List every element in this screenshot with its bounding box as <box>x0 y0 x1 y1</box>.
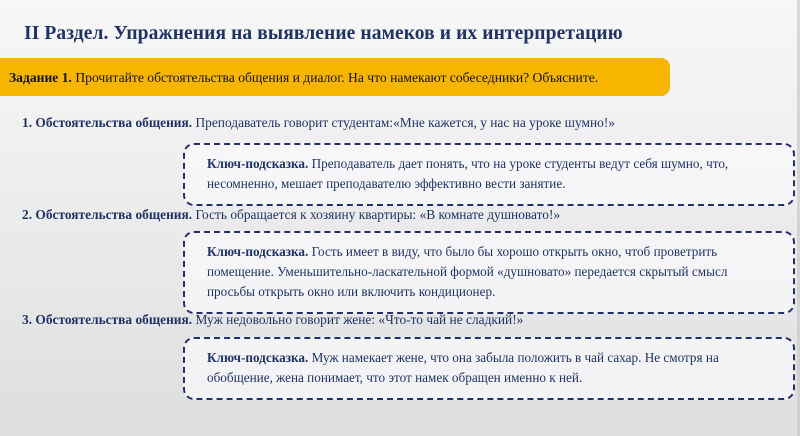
exercise-2-heading-text: Гость обращается к хозяину квартиры: «В … <box>195 207 560 222</box>
exercise-1-number: 1. <box>22 115 32 130</box>
task-label: Задание 1. <box>9 70 72 85</box>
exercise-2-heading: 2. Обстоятельства общения. Гость обращае… <box>22 205 800 224</box>
exercise-item-3: 3. Обстоятельства общения. Муж недовольн… <box>0 310 800 329</box>
task-text: Прочитайте обстоятельства общения и диал… <box>75 70 598 85</box>
exercise-1-hint-text: Ключ-подсказка. Преподаватель дает понят… <box>207 154 777 194</box>
exercise-1-hint-label: Ключ-подсказка. <box>207 156 308 171</box>
exercise-1-heading-label: Обстоятельства общения. <box>35 115 192 130</box>
exercise-item-2: 2. Обстоятельства общения. Гость обращае… <box>0 205 800 224</box>
exercise-3-number: 3. <box>22 312 32 327</box>
exercise-1-heading: 1. Обстоятельства общения. Преподаватель… <box>22 113 800 132</box>
exercise-3-hint-box: Ключ-подсказка. Муж намекает жене, что о… <box>183 337 795 400</box>
exercise-1-hint-box: Ключ-подсказка. Преподаватель дает понят… <box>183 143 795 206</box>
page-title: II Раздел. Упражнения на выявление намек… <box>24 22 764 46</box>
slide-canvas: II Раздел. Упражнения на выявление намек… <box>0 0 800 436</box>
exercise-item-1: 1. Обстоятельства общения. Преподаватель… <box>0 113 800 132</box>
exercise-3-hint-label: Ключ-подсказка. <box>207 350 308 365</box>
task-instruction-banner: Задание 1. Прочитайте обстоятельства общ… <box>0 58 670 96</box>
exercise-2-number: 2. <box>22 207 32 222</box>
task-instruction-text: Задание 1. Прочитайте обстоятельства общ… <box>9 69 598 86</box>
exercise-2-hint-box: Ключ-подсказка. Гость имеет в виду, что … <box>183 231 795 314</box>
exercise-1-heading-text: Преподаватель говорит студентам:«Мне каж… <box>195 115 615 130</box>
exercise-3-heading: 3. Обстоятельства общения. Муж недовольн… <box>22 310 800 329</box>
exercise-2-hint-text: Ключ-подсказка. Гость имеет в виду, что … <box>207 242 777 302</box>
exercise-3-heading-label: Обстоятельства общения. <box>35 312 192 327</box>
exercise-2-heading-label: Обстоятельства общения. <box>35 207 192 222</box>
exercise-3-heading-text: Муж недовольно говорит жене: «Что-то чай… <box>195 312 523 327</box>
exercise-3-hint-text: Ключ-подсказка. Муж намекает жене, что о… <box>207 348 777 388</box>
exercise-2-hint-label: Ключ-подсказка. <box>207 244 308 259</box>
